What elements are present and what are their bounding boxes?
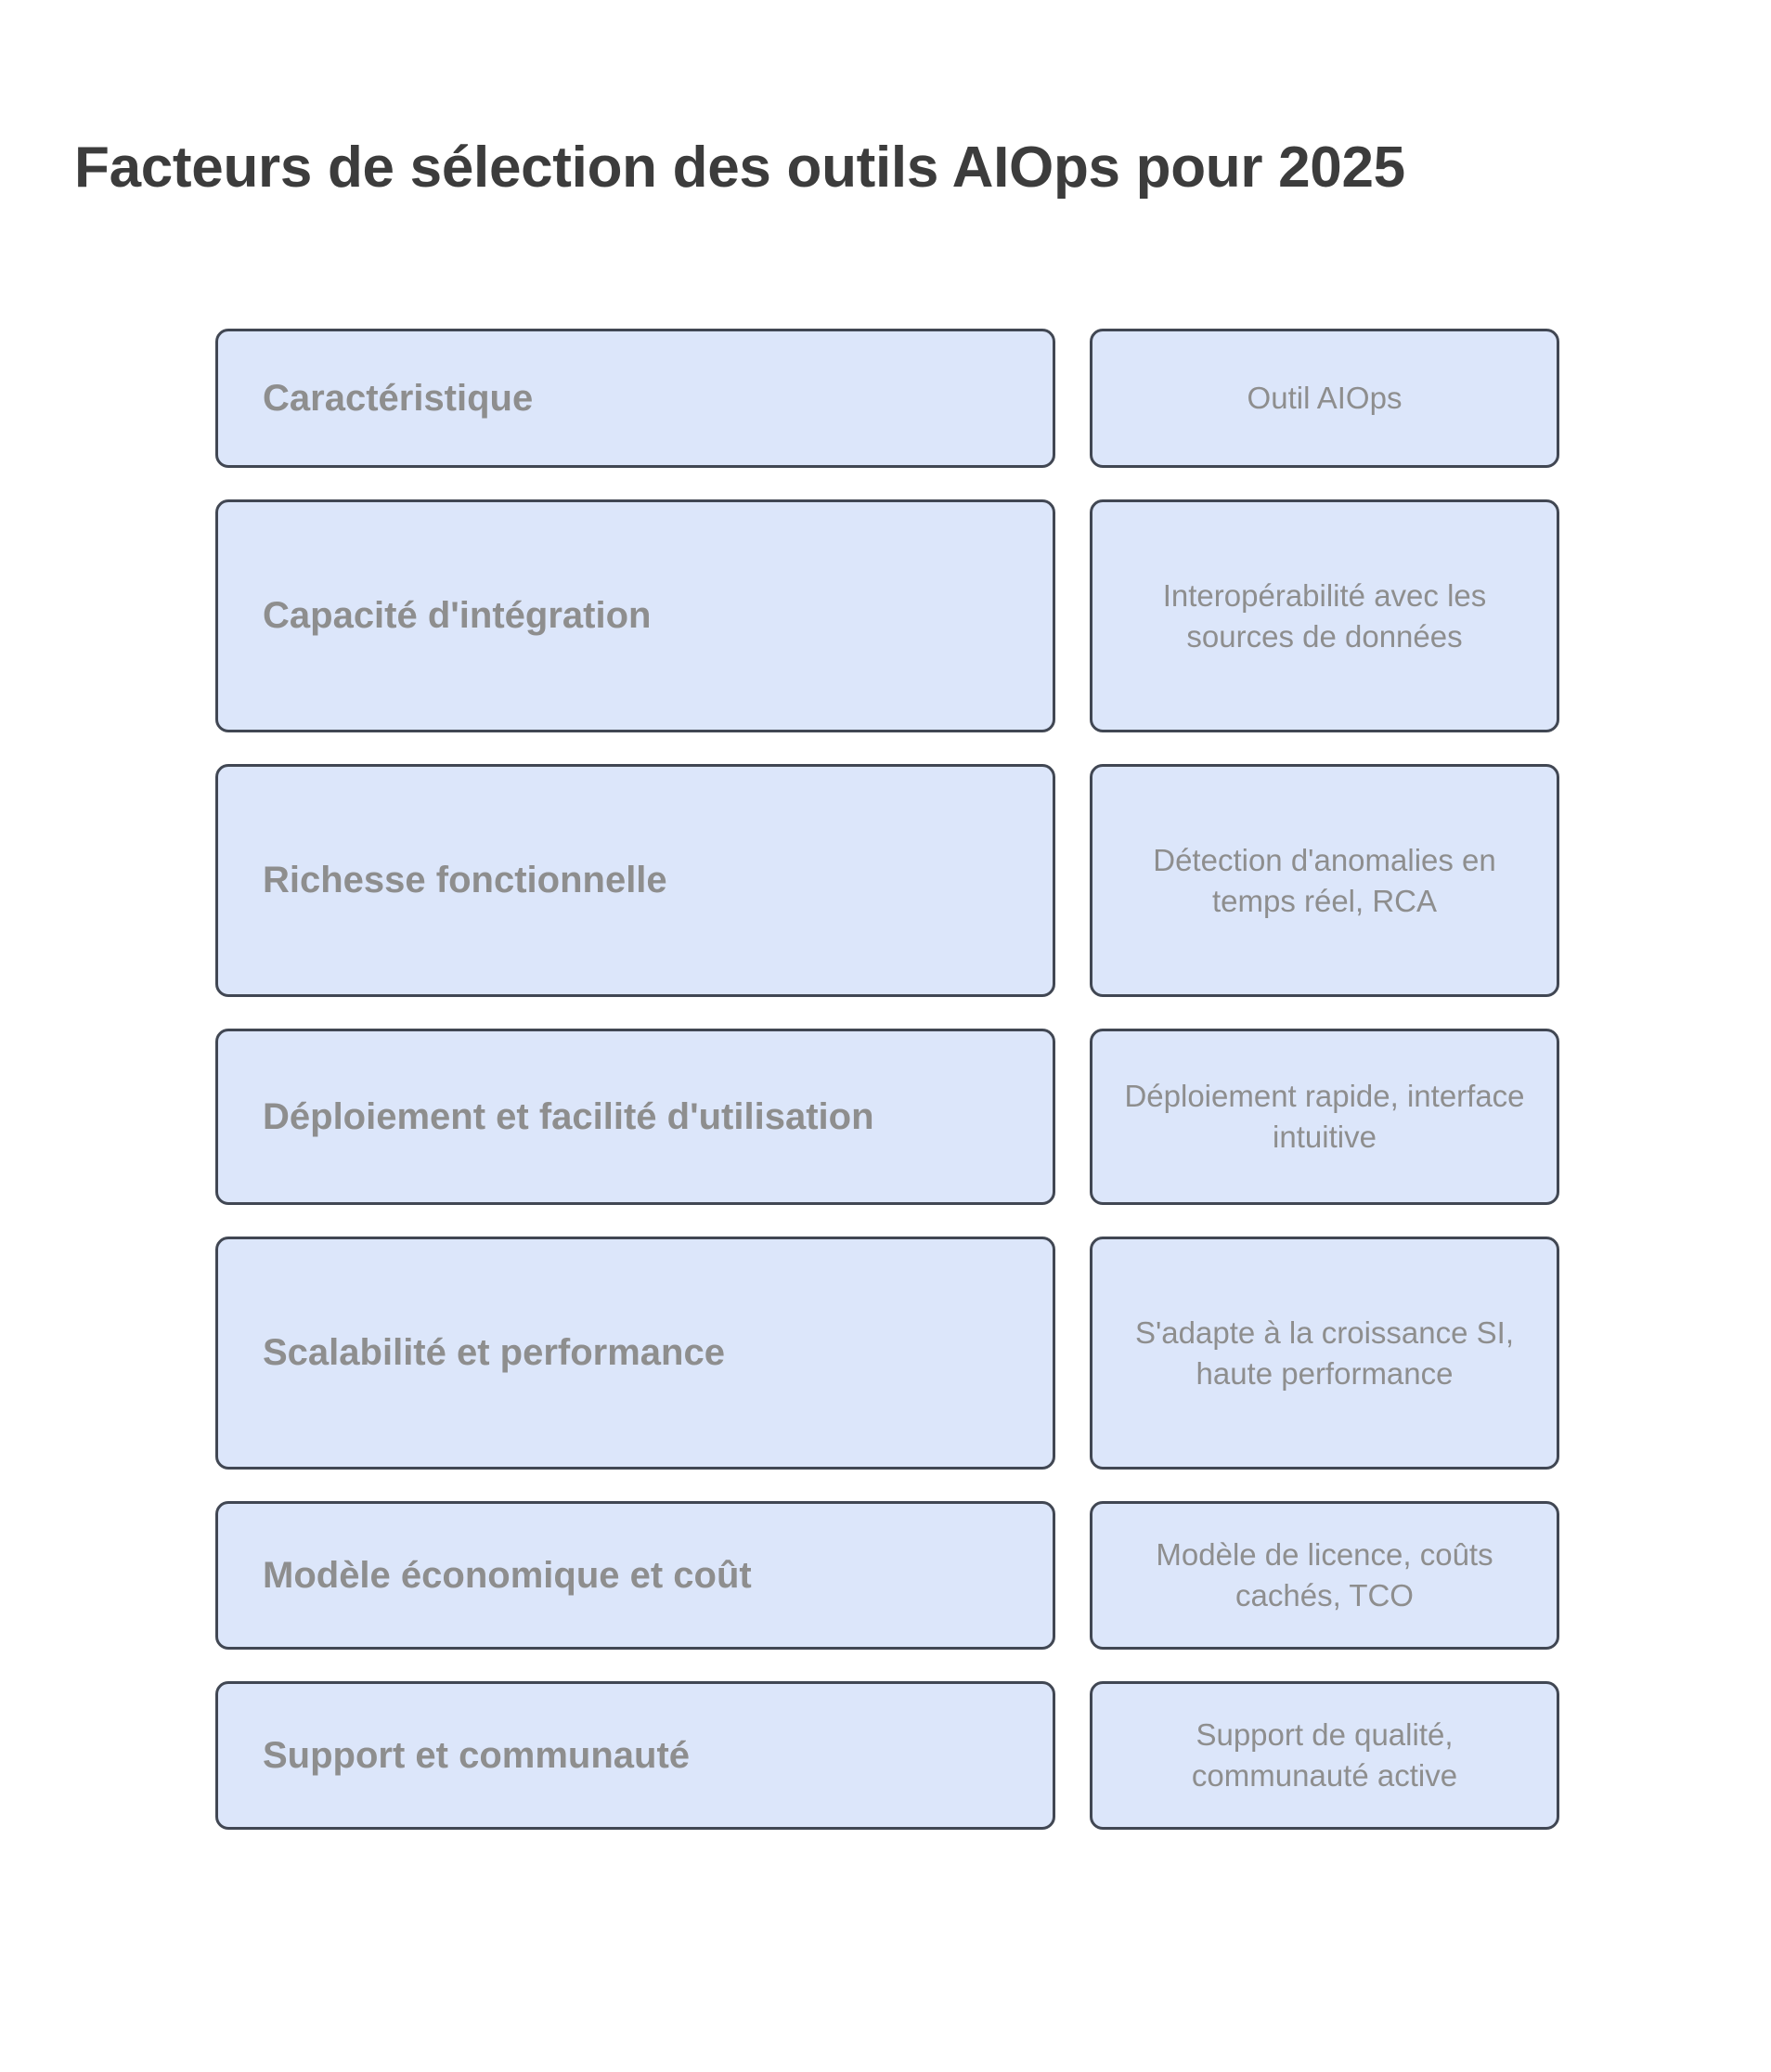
header-cell-tool: Outil AIOps [1090,329,1559,468]
header-cell-feature: Caractéristique [215,329,1055,468]
cell-tool-label: Modèle de licence, coûts cachés, TCO [1117,1535,1532,1616]
cell-tool: Détection d'anomalies en temps réel, RCA [1090,764,1559,997]
cell-feature: Richesse fonctionnelle [215,764,1055,997]
cell-feature-label: Capacité d'intégration [263,593,651,639]
cell-feature: Capacité d'intégration [215,499,1055,732]
cell-feature-label: Scalabilité et performance [263,1330,725,1376]
cell-feature-label: Modèle économique et coût [263,1553,752,1599]
cell-tool-label: Interopérabilité avec les sources de don… [1117,576,1532,657]
cell-tool: Support de qualité, communauté active [1090,1681,1559,1830]
header-label-feature: Caractéristique [263,376,533,421]
cell-feature-label: Richesse fonctionnelle [263,858,667,903]
table-row: Capacité d'intégration Interopérabilité … [215,499,1559,732]
infographic-page: Facteurs de sélection des outils AIOps p… [0,0,1771,2072]
cell-feature: Scalabilité et performance [215,1237,1055,1470]
cell-feature: Support et communauté [215,1681,1055,1830]
cell-tool-label: Déploiement rapide, interface intuitive [1117,1076,1532,1158]
cell-feature: Déploiement et facilité d'utilisation [215,1029,1055,1205]
cell-tool-label: S'adapte à la croissance SI, haute perfo… [1117,1313,1532,1394]
table-row: Richesse fonctionnelle Détection d'anoma… [215,764,1559,997]
cell-feature-label: Déploiement et facilité d'utilisation [263,1094,874,1140]
cell-tool-label: Détection d'anomalies en temps réel, RCA [1117,840,1532,922]
table-row: Scalabilité et performance S'adapte à la… [215,1237,1559,1470]
cell-feature: Modèle économique et coût [215,1501,1055,1650]
table-row: Modèle économique et coût Modèle de lice… [215,1501,1559,1650]
cell-tool: Déploiement rapide, interface intuitive [1090,1029,1559,1205]
table-row: Déploiement et facilité d'utilisation Dé… [215,1029,1559,1205]
cell-feature-label: Support et communauté [263,1733,690,1779]
cell-tool: Interopérabilité avec les sources de don… [1090,499,1559,732]
cell-tool: Modèle de licence, coûts cachés, TCO [1090,1501,1559,1650]
table-header-row: Caractéristique Outil AIOps [215,329,1559,468]
page-title: Facteurs de sélection des outils AIOps p… [74,136,1708,200]
cell-tool-label: Support de qualité, communauté active [1117,1715,1532,1796]
header-label-tool: Outil AIOps [1247,378,1403,419]
comparison-table: Caractéristique Outil AIOps Capacité d'i… [215,329,1559,1830]
cell-tool: S'adapte à la croissance SI, haute perfo… [1090,1237,1559,1470]
table-row: Support et communauté Support de qualité… [215,1681,1559,1830]
